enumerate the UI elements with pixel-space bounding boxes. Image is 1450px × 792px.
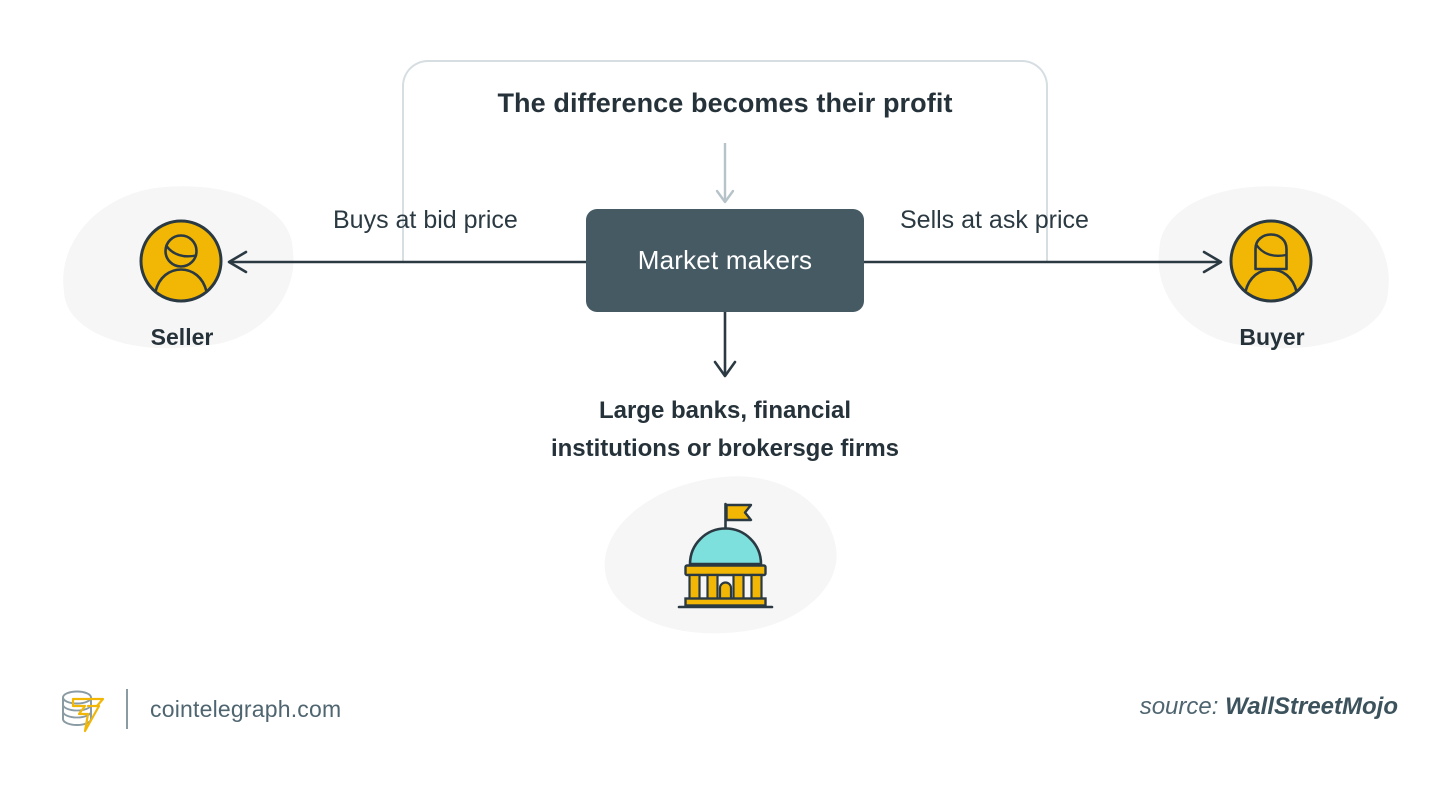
diagram-canvas: The difference becomes their profit Buys… xyxy=(0,0,1450,792)
bid-arrow-left xyxy=(229,252,586,272)
connector-arrows xyxy=(0,0,1450,792)
market-makers-node[interactable]: Market makers xyxy=(586,209,864,312)
bank-building-icon xyxy=(668,496,783,611)
institutions-arrow-down xyxy=(715,312,735,376)
user-avatar-female-icon xyxy=(1229,219,1313,303)
user-avatar-male-icon xyxy=(139,219,223,303)
profit-arrow-down xyxy=(717,143,733,202)
ask-arrow-right xyxy=(864,252,1221,272)
market-makers-label: Market makers xyxy=(638,245,813,276)
